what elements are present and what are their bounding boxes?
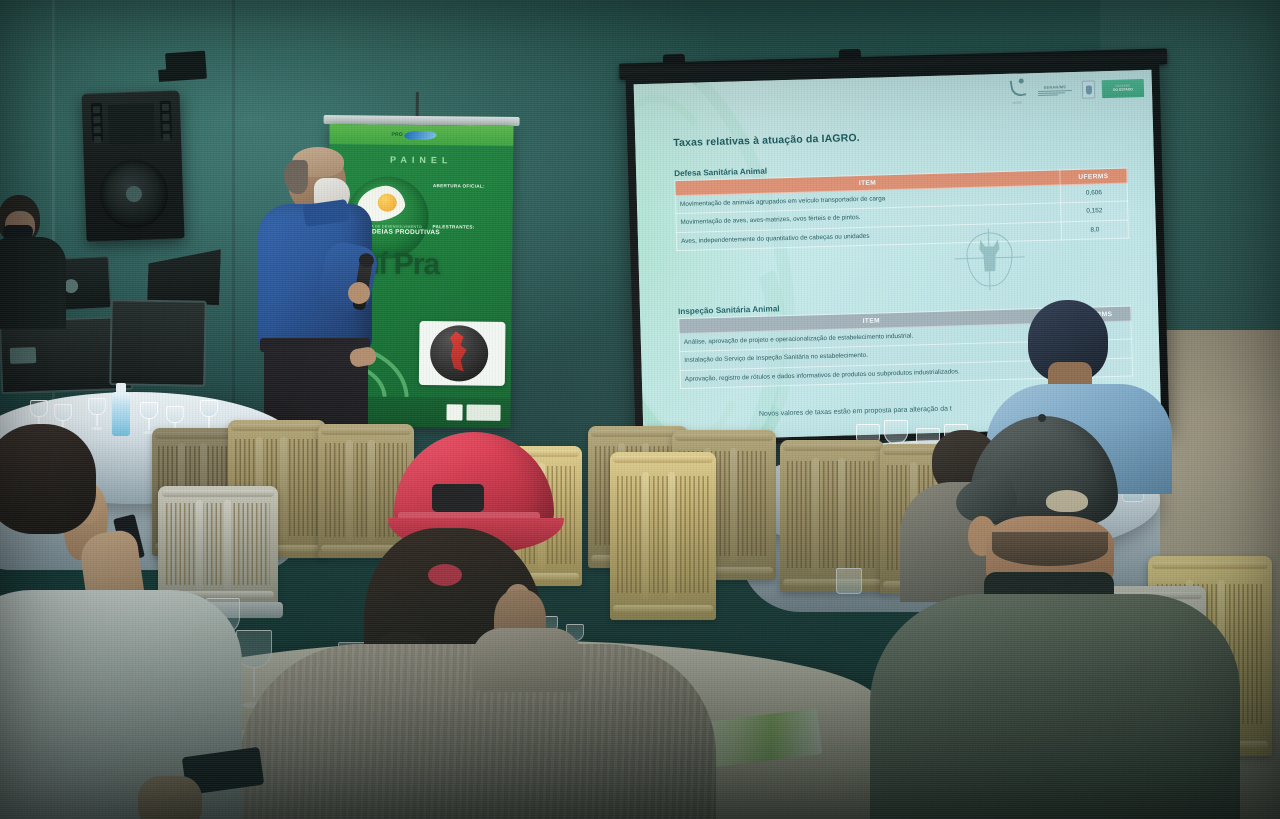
senar-ms-logo: SENAR/MS: [1035, 85, 1075, 96]
pa-speaker: [81, 90, 184, 241]
banner-name-5: [432, 258, 506, 265]
chair: [780, 440, 884, 592]
senar-ms-logo-label: SENAR/MS: [1044, 85, 1067, 90]
flight-case-2: [109, 299, 206, 387]
cap-back-window: [432, 484, 484, 512]
senar-ms-logo-bars: [1038, 90, 1072, 96]
pro-logo: PRO: [391, 128, 451, 143]
banner-line-2: [433, 211, 434, 216]
presenter-hair: [284, 160, 308, 194]
brasao-logo: [1082, 80, 1095, 98]
rooster-photo: [419, 321, 506, 386]
presenter-hand: [348, 282, 370, 304]
technician-body: [0, 237, 66, 329]
banner-name-4: [432, 246, 506, 253]
banner-line-3: [432, 239, 433, 244]
attendee-gray-cap-hair: [992, 532, 1108, 566]
banner-name-1: [433, 192, 507, 199]
pro-logo-text: PRO: [391, 132, 402, 138]
attendee-white-hand-lower: [138, 776, 202, 819]
sponsor-logo-2: [466, 404, 500, 420]
banner-column-heading-1: ABERTURA OFICIAL:: [433, 183, 507, 191]
cell-value: 8,0: [1061, 220, 1128, 240]
wall-seam-secondary: [232, 0, 235, 440]
cell-value: 0,606: [1060, 183, 1127, 203]
cap-button: [1038, 414, 1046, 422]
av-technician: [0, 195, 66, 325]
pro-logo-swoosh: [403, 130, 438, 139]
banner-line-1: [433, 198, 434, 203]
banner-name-2: [433, 205, 507, 212]
governo-logo-line2: DO ESTADO: [1113, 88, 1133, 92]
slide-logo-row: IAGRO SENAR/MS GOVERNO DO ESTADO: [1006, 75, 1145, 105]
banner-line-5: [435, 252, 436, 257]
speaker-wall-bracket: [165, 51, 207, 82]
banner-line-7: [434, 265, 435, 270]
speaker-port-right: [160, 101, 172, 139]
hair-tie: [428, 564, 462, 586]
cap-logo: [1046, 490, 1088, 512]
water-tumbler: [836, 568, 862, 594]
section-label-defesa: Defesa Sanitária Animal: [674, 167, 767, 179]
banner-pole: [416, 92, 419, 118]
attendee-white-hair: [0, 424, 96, 534]
presenter-hand-lower: [349, 346, 378, 368]
speaker-port-left: [91, 103, 103, 141]
conference-room-photo: PRO PAINEL PROGRAMA DE DESENVOLVIMENTO D…: [0, 0, 1280, 819]
banner-name-3: [432, 233, 506, 240]
table-defesa-sanitaria-animal: ITEM UFERMS Movimentação de animais agru…: [674, 168, 1129, 251]
case-latch: [10, 347, 37, 364]
speaker-woofer: [99, 159, 169, 229]
speaker-horn: [108, 103, 155, 145]
banner-text-column: ABERTURA OFICIAL: PALESTRANTES:: [432, 183, 507, 272]
slide-title: Taxas relativas à atuação da IAGRO.: [673, 132, 860, 149]
presenter: [252, 148, 382, 448]
attendee-gray-cap: [900, 404, 1280, 819]
cell-value: 0,152: [1061, 201, 1128, 221]
attendee-red-cap: [276, 432, 736, 819]
attendee-white-shirt: [0, 424, 208, 819]
attendee-red-cap-collar: [472, 628, 582, 692]
governo-do-estado-logo: GOVERNO DO ESTADO: [1102, 79, 1144, 98]
attendee-gray-cap-shirt: [870, 594, 1240, 819]
banner-column-heading-2: PALESTRANTES:: [432, 224, 506, 232]
iagro-logo: IAGRO: [1006, 78, 1029, 105]
section-label-inspecao: Inspeção Sanitária Animal: [678, 304, 780, 316]
sponsor-logo-1: [446, 404, 462, 420]
iagro-logo-label: IAGRO: [1006, 101, 1028, 105]
